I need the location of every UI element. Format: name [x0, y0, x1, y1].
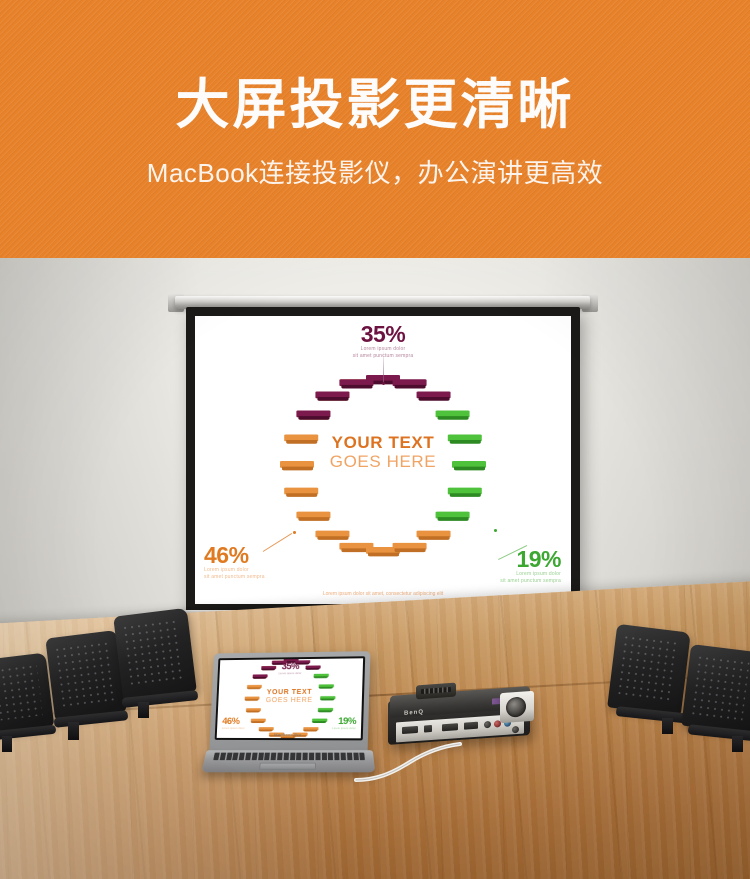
chair-backrest — [113, 608, 197, 700]
stat-value: 19% — [500, 547, 561, 571]
chair-perforation — [690, 654, 750, 721]
power-port — [512, 726, 519, 733]
chair-perforation — [0, 663, 43, 721]
stat-46-percent: 46% Lorem ipsum dolor sit amet punctum s… — [204, 543, 265, 581]
stat-35-percent: 35% Lorem ipsum dolor — [220, 661, 363, 676]
projector-vent — [421, 687, 451, 694]
conference-room-photo: YOUR TEXT GOES HERE 35% Lorem ipsum dolo… — [0, 258, 750, 879]
stat-value: 46% — [204, 543, 265, 567]
center-text-line2: GOES HERE — [195, 452, 571, 472]
stat-caption-line2: sit amet punctum sempra — [204, 574, 265, 581]
projector-device: BenQ — [388, 682, 538, 758]
projector-lens — [506, 696, 526, 717]
infographic-center-text: YOUR TEXT GOES HERE — [195, 433, 571, 472]
vga-port — [402, 726, 418, 734]
stat-value: 46% — [222, 717, 245, 727]
ring-block — [436, 511, 470, 520]
usb-port — [424, 725, 432, 733]
laptop-base — [201, 750, 375, 772]
projector-lens-housing — [500, 691, 534, 723]
leader-line-left — [263, 533, 292, 552]
chair-left-3 — [118, 612, 208, 720]
projector-handle — [416, 683, 456, 700]
ring-block — [417, 530, 451, 539]
chair-backrest — [607, 624, 691, 716]
ring-block — [417, 391, 451, 400]
ring-block — [284, 487, 318, 496]
stat-value: 35% — [195, 322, 571, 346]
stat-value: 19% — [332, 717, 356, 727]
chair-backrest — [45, 630, 126, 720]
ring-block — [393, 379, 427, 388]
projection-screen-canvas: YOUR TEXT GOES HERE 35% Lorem ipsum dolo… — [195, 316, 571, 604]
laptop-brand-label: MacBook Pro — [215, 728, 363, 740]
ring-block — [436, 410, 470, 419]
chair-right-2 — [686, 648, 750, 752]
stat-35-percent: 35% Lorem ipsum dolor sit amet punctum s… — [195, 322, 571, 360]
leader-dot-top — [382, 382, 385, 385]
stat-19-percent: 19% Lorem ipsum dolor sit amet punctum s… — [500, 547, 561, 585]
page-title: 大屏投影更清晰 — [0, 74, 750, 136]
chair-leg — [68, 722, 79, 740]
laptop-lid: YOUR TEXT GOES HERE 35% Lorem ipsum dolo… — [209, 651, 370, 753]
chair-perforation — [53, 640, 115, 707]
leader-dot-left — [293, 531, 296, 534]
stat-caption-line1: Lorem ipsum dolor — [500, 571, 561, 578]
laptop-display-bezel: YOUR TEXT GOES HERE 35% Lorem ipsum dolo… — [215, 656, 366, 740]
ring-block — [296, 511, 330, 520]
page-subtitle: MacBook连接投影仪，办公演讲更高效 — [0, 156, 750, 190]
center-text-line2: GOES HERE — [218, 697, 362, 706]
chair-backrest — [681, 644, 750, 734]
ring-block — [339, 379, 373, 388]
product-banner-page: 大屏投影更清晰 MacBook连接投影仪，办公演讲更高效 — [0, 0, 750, 879]
dvi-port — [464, 722, 478, 730]
ring-block — [317, 708, 332, 712]
infographic-center-text: YOUR TEXT GOES HERE — [218, 689, 362, 706]
ring-block — [448, 487, 482, 496]
stat-caption-line1: Lorem ipsum dolor — [204, 567, 265, 574]
ring-block — [393, 543, 427, 552]
center-text-line1: YOUR TEXT — [195, 433, 571, 452]
macbook-laptop: YOUR TEXT GOES HERE 35% Lorem ipsum dolo… — [204, 652, 374, 788]
infographic-large: YOUR TEXT GOES HERE 35% Lorem ipsum dolo… — [195, 316, 571, 604]
ring-block — [296, 410, 330, 419]
laptop-screen: YOUR TEXT GOES HERE 35% Lorem ipsum dolo… — [217, 658, 363, 738]
laptop-trackpad[interactable] — [259, 763, 316, 770]
chair-leg — [2, 736, 12, 752]
stat-caption-line1: Lorem ipsum dolor — [195, 346, 571, 353]
stat-caption-line2: sit amet punctum sempra — [195, 353, 571, 360]
laptop-keyboard — [213, 753, 365, 760]
ring-block — [245, 708, 260, 712]
chair-leg — [732, 736, 743, 752]
chair-perforation — [616, 634, 680, 703]
chair-leg — [662, 718, 673, 734]
leader-dot-right — [494, 529, 497, 532]
chair-backrest — [0, 652, 54, 733]
hero-banner: 大屏投影更清晰 MacBook连接投影仪，办公演讲更高效 — [0, 0, 750, 258]
stat-caption-line2: sit amet punctum sempra — [500, 578, 561, 585]
stat-caption-line1: Lorem ipsum dolor — [220, 671, 363, 676]
infographic-laptop: YOUR TEXT GOES HERE 35% Lorem ipsum dolo… — [217, 658, 363, 738]
ring-block — [315, 391, 349, 400]
svideo-port — [484, 721, 491, 728]
chair-leg — [138, 702, 149, 718]
ring-block — [312, 719, 327, 723]
projection-screen: YOUR TEXT GOES HERE 35% Lorem ipsum dolo… — [186, 307, 580, 613]
hdmi-port — [442, 723, 458, 731]
ring-block — [315, 530, 349, 539]
chair-perforation — [121, 618, 185, 687]
ring-block — [250, 719, 265, 723]
